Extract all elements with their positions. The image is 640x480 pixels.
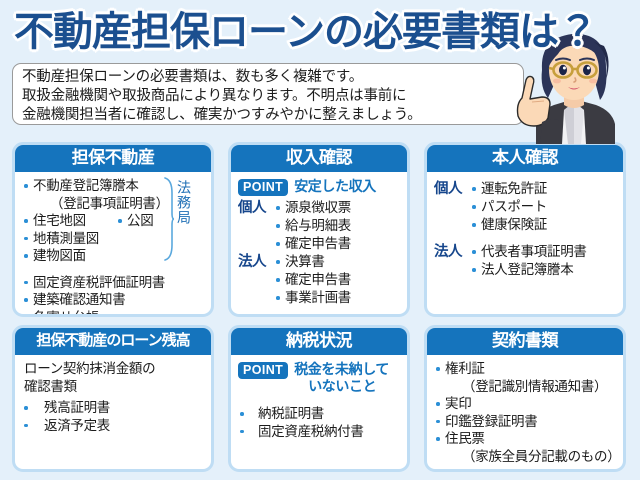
list-item: 源泉徴収票: [274, 199, 401, 217]
page-title: 不動産担保ローンの必要書類は？: [14, 8, 614, 56]
card-body-contract-documents: 権利証 （登記識別情報通知書） 実印 印鑑登録証明書 住民票 （家族全員分記載の…: [427, 355, 623, 469]
loan-balance-lead: ローン契約抹消金額の 確認書類: [22, 360, 205, 395]
card-contract-documents: 契約書類 権利証 （登記識別情報通知書） 実印 印鑑登録証明書 住民票 （家族全…: [424, 325, 626, 472]
list-item: 不動産登記簿謄本: [22, 177, 205, 195]
list-item: 権利証: [434, 360, 617, 378]
point-text-line-2: いないこと: [294, 378, 389, 395]
infographic-page: 不動産担保ローンの必要書類は？: [0, 0, 640, 480]
list-item: 住宅地図 公図: [22, 212, 205, 230]
list-item: 運転免許証: [470, 180, 617, 198]
income-corporate-list: 決算書 確定申告書 事業計画書: [274, 253, 401, 307]
group-label-individual: 個人: [238, 199, 274, 217]
group-spacer: [434, 234, 617, 243]
list-item-secondary: 公図: [117, 212, 153, 230]
collateral-property-list-group1: 不動産登記簿謄本 （登記事項証明書） 住宅地図 公図 地積測量図 建物図面: [22, 177, 205, 265]
income-group-individual: 個人 源泉徴収票 給与明細表 確定申告書: [238, 199, 401, 253]
intro-line-3: 金融機関担当者に確認し、確実かつすみやかに整えましょう。: [22, 106, 515, 125]
list-item-text: 住宅地図: [33, 212, 117, 230]
page-title-wrapper: 不動産担保ローンの必要書類は？: [14, 8, 614, 58]
identity-group-corporate: 法人 代表者事項証明書 法人登記簿謄本: [434, 243, 617, 279]
list-item: 残高証明書: [22, 399, 205, 417]
income-individual-list: 源泉徴収票 給与明細表 確定申告書: [274, 199, 401, 253]
list-item: 健康保険証: [470, 216, 617, 234]
income-group-corporate: 法人 決算書 確定申告書 事業計画書: [238, 253, 401, 307]
card-tax-status: 納税状況 POINT 税金を未納して いないこと 納税証明書 固定資産税納付書: [228, 325, 410, 472]
list-item: 法人登記簿謄本: [470, 261, 617, 279]
list-item: 決算書: [274, 253, 401, 271]
identity-groups: 個人 運転免許証 パスポート 健康保険証 法人: [434, 180, 617, 279]
point-badge: POINT: [238, 362, 288, 379]
card-loan-balance: 担保不動産のローン残高 ローン契約抹消金額の 確認書類 残高証明書 返済予定表: [12, 325, 214, 472]
list-item: 地積測量図: [22, 230, 205, 248]
collateral-property-list-group2: 固定資産税評価証明書 建築確認通知書 名寄せ台帳: [22, 274, 205, 318]
point-row-income: POINT 安定した収入: [238, 178, 401, 196]
card-header-contract-documents: 契約書類: [427, 328, 623, 355]
list-item: 印鑑登録証明書: [434, 413, 617, 431]
list-item: （家族全員分記載のもの）: [434, 448, 617, 466]
list-item: （登記事項証明書）: [22, 195, 205, 213]
intro-text-box: 不動産担保ローンの必要書類は、数も多く複雑です。 取扱金融機関や取扱商品により異…: [12, 63, 524, 125]
list-item: 建築確認通知書: [22, 291, 205, 309]
card-header-tax-status: 納税状況: [231, 328, 407, 355]
card-body-collateral-property: 法務局 不動産登記簿謄本 （登記事項証明書） 住宅地図 公図: [15, 172, 211, 317]
identity-individual-list: 運転免許証 パスポート 健康保険証: [470, 180, 617, 234]
list-item: 納税証明書: [238, 405, 401, 423]
list-item: 代表者事項証明書: [470, 243, 617, 261]
list-item: 固定資産税評価証明書: [22, 274, 205, 292]
group-label-corporate: 法人: [238, 253, 274, 271]
card-identity-verification: 本人確認 個人 運転免許証 パスポート 健康保険証: [424, 142, 626, 317]
list-item: 返済予定表: [22, 417, 205, 435]
document-card-grid: 担保不動産 法務局 不動産登記簿謄本 （登記事項証明書） 住宅地図: [12, 142, 628, 472]
income-groups: 個人 源泉徴収票 給与明細表 確定申告書 法人: [238, 199, 401, 307]
contract-documents-list: 権利証 （登記識別情報通知書） 実印 印鑑登録証明書 住民票 （家族全員分記載の…: [434, 360, 617, 465]
list-item: 実印: [434, 395, 617, 413]
point-text: 安定した収入: [294, 178, 376, 195]
card-collateral-property: 担保不動産 法務局 不動産登記簿謄本 （登記事項証明書） 住宅地図: [12, 142, 214, 317]
card-body-income-verification: POINT 安定した収入 個人 源泉徴収票 給与明細表 確定申告書: [231, 172, 407, 314]
card-body-loan-balance: ローン契約抹消金額の 確認書類 残高証明書 返済予定表: [15, 355, 211, 469]
card-header-income-verification: 収入確認: [231, 145, 407, 172]
group-label-corporate: 法人: [434, 243, 470, 261]
point-text-line-1: 税金を未納して: [294, 361, 389, 378]
point-row-tax: POINT 税金を未納して いないこと: [238, 361, 401, 395]
list-item: パスポート: [470, 198, 617, 216]
intro-line-1: 不動産担保ローンの必要書類は、数も多く複雑です。: [22, 68, 515, 87]
list-item: 確定申告書: [274, 271, 401, 289]
card-header-identity-verification: 本人確認: [427, 145, 623, 172]
list-item: 事業計画書: [274, 289, 401, 307]
point-text-block: 税金を未納して いないこと: [294, 361, 389, 395]
list-item: （登記識別情報通知書）: [434, 378, 617, 396]
card-header-loan-balance: 担保不動産のローン残高: [15, 328, 211, 355]
card-header-collateral-property: 担保不動産: [15, 145, 211, 172]
point-badge: POINT: [238, 179, 288, 196]
intro-line-2: 取扱金融機関や取扱商品により異なります。不明点は事前に: [22, 87, 515, 106]
card-body-identity-verification: 個人 運転免許証 パスポート 健康保険証 法人: [427, 172, 623, 314]
identity-group-individual: 個人 運転免許証 パスポート 健康保険証: [434, 180, 617, 234]
loan-balance-list: 残高証明書 返済予定表: [22, 399, 205, 434]
list-item: 名寄せ台帳: [22, 309, 205, 318]
group-label-individual: 個人: [434, 180, 470, 198]
list-item: 確定申告書: [274, 235, 401, 253]
list-item: 住民票: [434, 430, 617, 448]
lead-line: 確認書類: [22, 378, 205, 396]
list-item: 建物図面: [22, 247, 205, 265]
lead-line: ローン契約抹消金額の: [22, 360, 205, 378]
card-body-tax-status: POINT 税金を未納して いないこと 納税証明書 固定資産税納付書: [231, 355, 407, 469]
tax-status-list: 納税証明書 固定資産税納付書: [238, 405, 401, 440]
list-item: 固定資産税納付書: [238, 423, 401, 441]
card-income-verification: 収入確認 POINT 安定した収入 個人 源泉徴収票 給与明細表 確定申告書: [228, 142, 410, 317]
list-item: 給与明細表: [274, 217, 401, 235]
identity-corporate-list: 代表者事項証明書 法人登記簿謄本: [470, 243, 617, 279]
